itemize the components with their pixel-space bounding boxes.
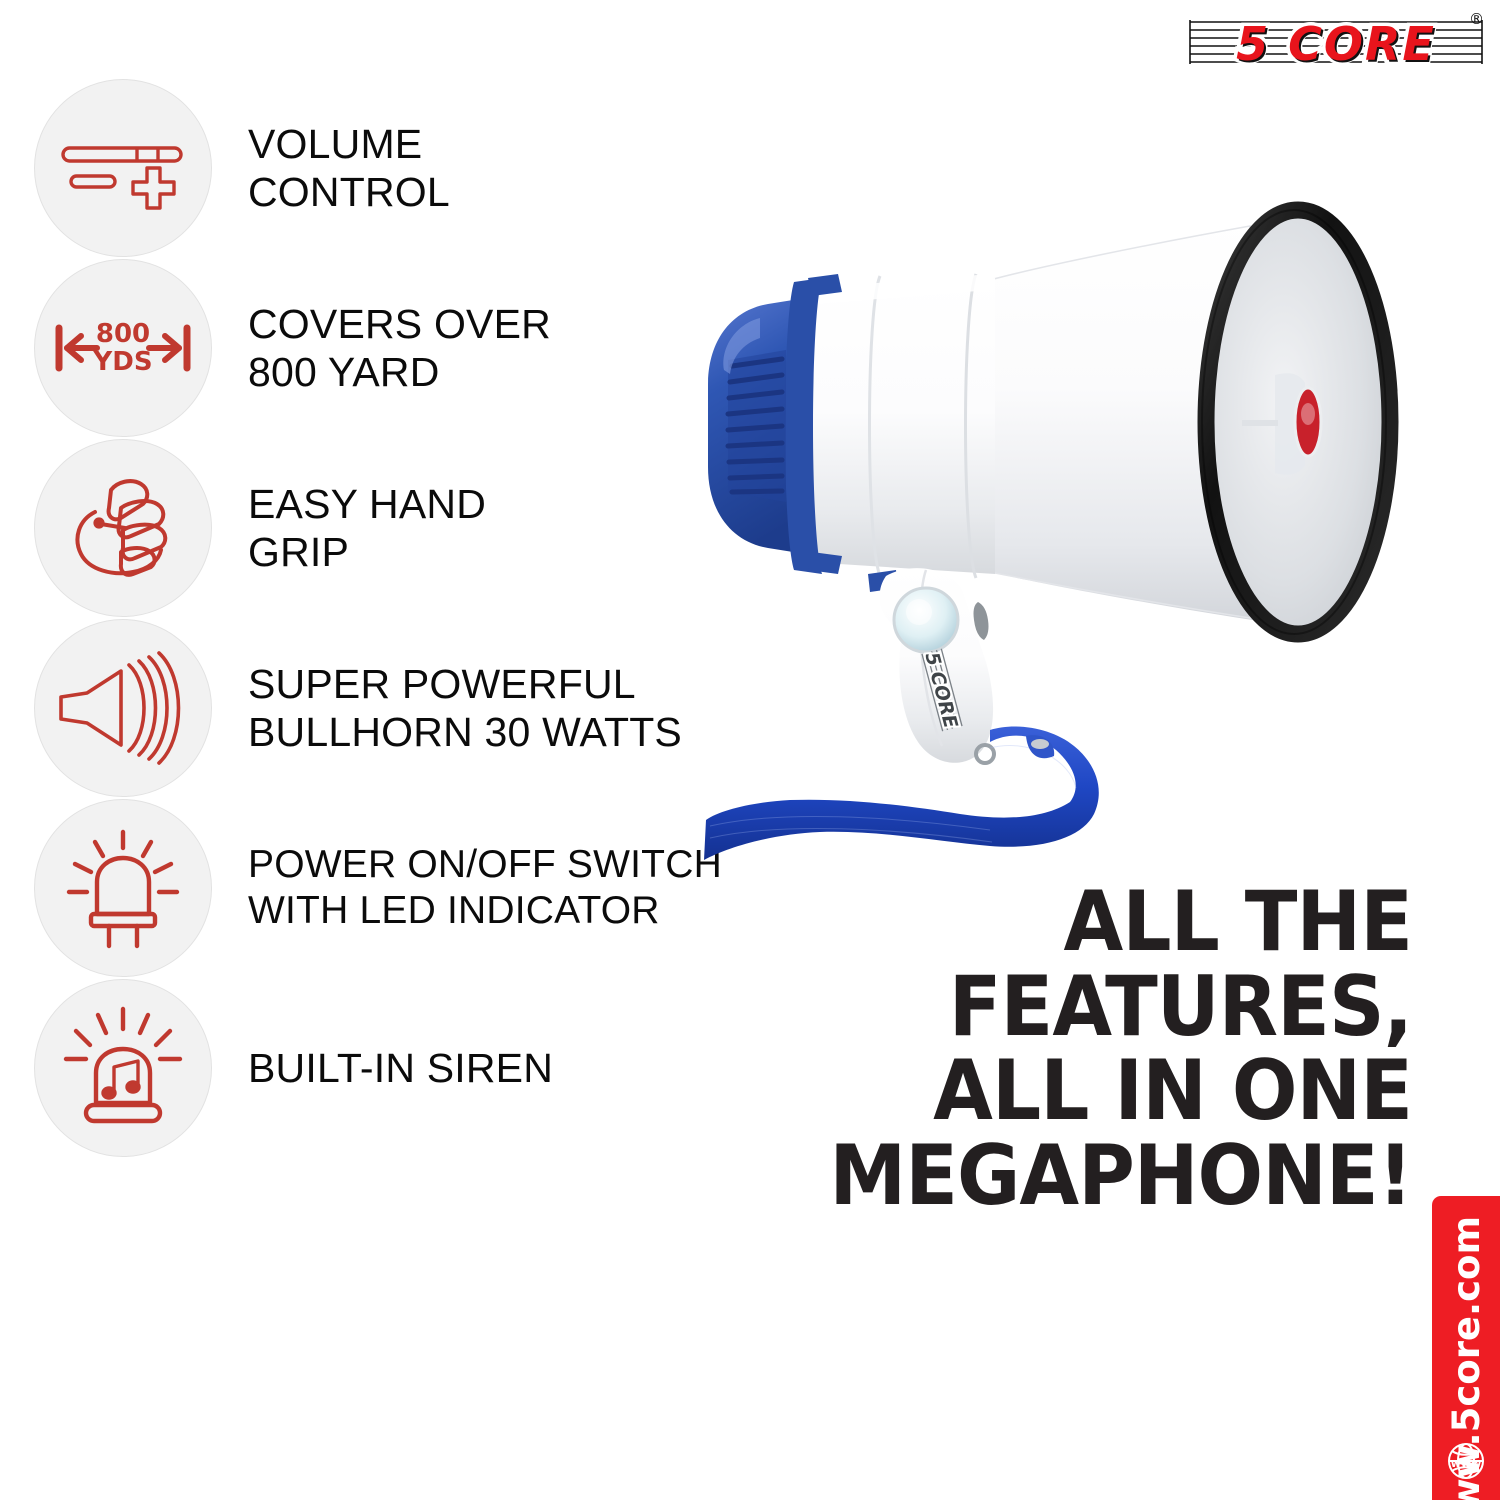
website-tab[interactable]: www.5core.com www	[1432, 1196, 1500, 1500]
led-bulb-icon	[61, 826, 185, 950]
feature-item: BUILT-IN SIREN	[34, 978, 854, 1158]
feature-icon-badge	[34, 619, 212, 797]
feature-label: VOLUME CONTROL	[248, 120, 450, 217]
svg-text:www: www	[1451, 1457, 1482, 1470]
strap-buckle	[1031, 739, 1049, 749]
megaphone-soundwave-icon	[57, 649, 189, 767]
feature-icon-badge	[34, 79, 212, 257]
volume-control-icon	[59, 118, 187, 218]
feature-label: SUPER POWERFUL BULLHORN 30 WATTS	[248, 660, 682, 757]
registered-trademark-icon: ®	[1469, 10, 1484, 28]
logo-wordmark: 5 CORE	[1186, 8, 1486, 80]
icon-value-800: 800	[96, 319, 150, 349]
megaphone-product-image: 5 CORE	[690, 170, 1450, 870]
feature-label: COVERS OVER 800 YARD	[248, 300, 551, 397]
www-globe-icon: www	[1445, 1440, 1487, 1482]
feature-icon-badge	[34, 439, 212, 617]
distance-800-yds-icon: 800 YDS	[53, 308, 193, 388]
feature-icon-badge	[34, 979, 212, 1157]
hand-grip-fist-icon	[65, 472, 181, 584]
page-title: ALL THE FEATURES, ALL IN ONE MEGAPHONE!	[780, 880, 1412, 1219]
feature-icon-badge	[34, 799, 212, 977]
feature-icon-badge: 800 YDS	[34, 259, 212, 437]
brand-logo: 5 CORE ®	[1186, 8, 1486, 80]
feature-label: POWER ON/OFF SWITCH WITH LED INDICATOR	[248, 842, 722, 934]
speaker-grille	[728, 350, 786, 502]
feature-label: BUILT-IN SIREN	[248, 1044, 553, 1092]
icon-unit-yds: YDS	[92, 347, 152, 377]
siren-music-note-icon	[60, 1005, 186, 1131]
feature-label: EASY HAND GRIP	[248, 480, 486, 577]
megaphone-illustration: 5 CORE	[690, 170, 1450, 870]
